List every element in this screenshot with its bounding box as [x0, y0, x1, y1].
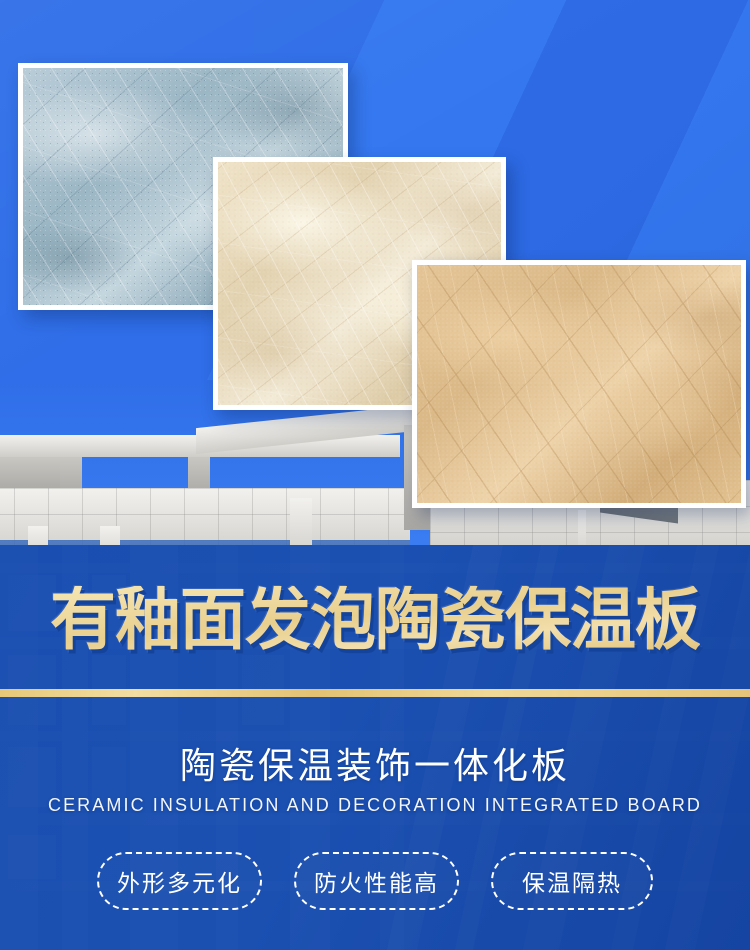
page-title: 有釉面发泡陶瓷保温板 — [50, 586, 700, 655]
subtitle-chinese: 陶瓷保温装饰一体化板 — [0, 737, 750, 789]
feature-badge-shape-diversity[interactable]: 外形多元化 — [97, 852, 262, 910]
product-poster: 有釉面发泡陶瓷保温板 陶瓷保温装饰一体化板 CERAMIC INSULATION… — [0, 0, 750, 950]
headline-area: 有釉面发泡陶瓷保温板 — [0, 586, 750, 655]
tile-texture — [417, 265, 741, 503]
feature-badge-thermal-insulation[interactable]: 保温隔热 — [491, 852, 653, 910]
subtitle-english: CERAMIC INSULATION AND DECORATION INTEGR… — [0, 795, 750, 816]
gold-divider — [0, 689, 750, 697]
feature-badge-fire-resistance[interactable]: 防火性能高 — [294, 852, 459, 910]
feature-badge-row: 外形多元化 防火性能高 保温隔热 — [0, 852, 750, 910]
marble-speckle — [417, 265, 741, 503]
sample-tile-tan-gold-marble[interactable] — [412, 260, 746, 508]
